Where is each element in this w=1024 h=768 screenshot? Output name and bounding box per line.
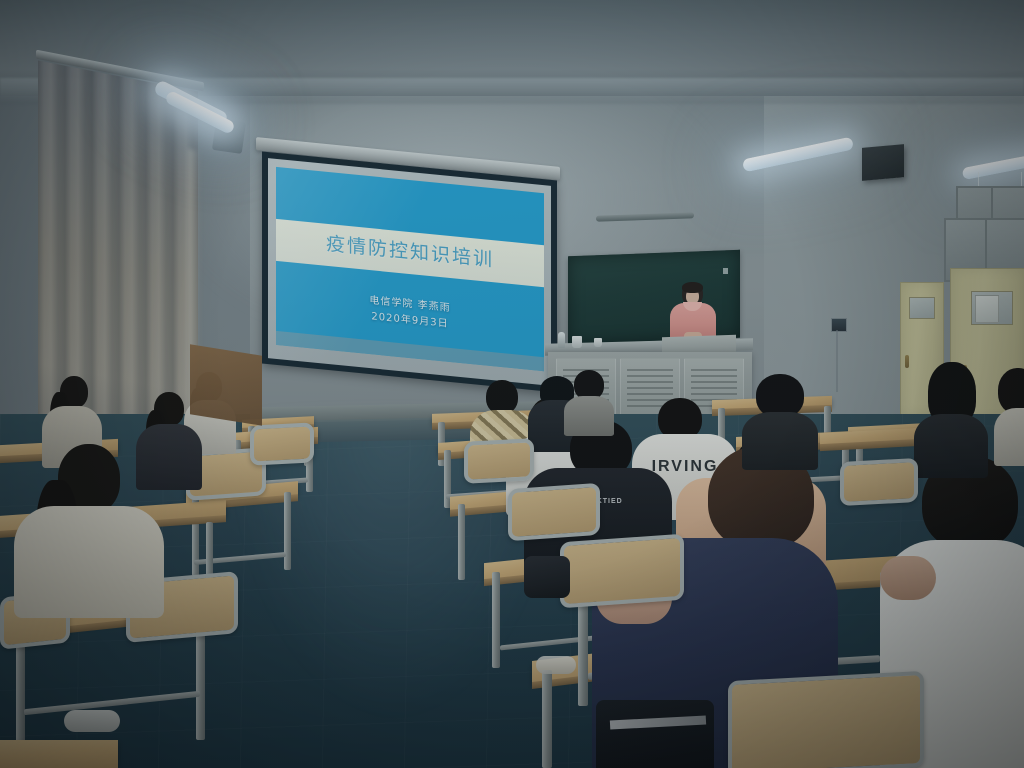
door-notice: [975, 295, 999, 323]
wooden-cabinet: [190, 344, 262, 425]
student-arm: [880, 556, 936, 600]
desk-leg: [196, 620, 205, 740]
student-shorts: [596, 700, 714, 768]
desk-leg: [458, 504, 465, 580]
classroom-photo: 疫情防控知识培训 电信学院 李燕雨 2020年9月3日: [0, 0, 1024, 768]
desk-leg: [542, 670, 552, 768]
desk-left-nearest: [0, 740, 118, 768]
projector-slide: 疫情防控知识培训 电信学院 李燕雨 2020年9月3日: [276, 167, 544, 371]
desk-leg: [492, 572, 500, 668]
student-torso: [914, 414, 988, 478]
sneaker-2: [536, 656, 576, 674]
student-torso: [564, 396, 614, 436]
backpack: [524, 556, 570, 598]
chair-center-back[interactable]: [464, 438, 534, 484]
bottle-icon: [558, 332, 565, 348]
podium-items: [558, 332, 616, 350]
cup-icon: [572, 336, 582, 348]
wall-control-panel[interactable]: [831, 318, 847, 332]
student-mid-grey: [564, 370, 616, 432]
student-left-front-cream: [14, 444, 170, 616]
chair-center-front[interactable]: [560, 534, 684, 609]
student-torso: [742, 412, 818, 470]
student-mid-back-dark: [742, 374, 820, 466]
chair-front-right[interactable]: [728, 671, 924, 768]
board-clip: [723, 268, 728, 274]
desk-leg: [284, 492, 291, 570]
wall-speaker-icon: [862, 144, 904, 181]
student-right-back-dark: [914, 362, 990, 474]
projection-screen: 疫情防控知识培训 电信学院 李燕雨 2020年9月3日: [268, 158, 551, 386]
door-handle-left[interactable]: [905, 355, 909, 368]
chair-right-back[interactable]: [840, 458, 918, 506]
door-window-left: [909, 297, 935, 319]
presenter: [664, 282, 720, 342]
student-torso: [14, 506, 164, 618]
desk-surface: [0, 740, 118, 768]
cup-icon-2: [594, 338, 602, 347]
student-right-far-pony: [994, 368, 1024, 464]
student-torso: [994, 408, 1024, 466]
presenter-fringe: [682, 282, 703, 293]
chair-left-back[interactable]: [250, 422, 314, 465]
wall-conduit: [836, 330, 838, 392]
sneaker: [64, 710, 120, 732]
chair-center-mid[interactable]: [508, 483, 600, 541]
desk-leg: [16, 634, 25, 754]
